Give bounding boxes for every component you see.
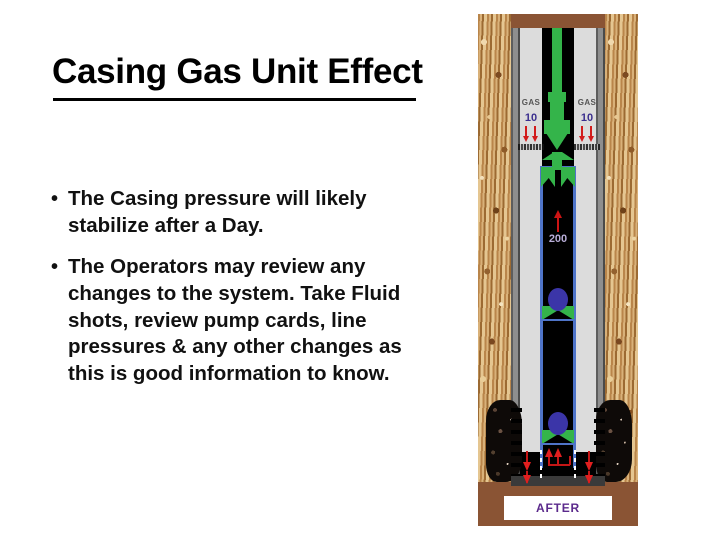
bullet-list: • The Casing pressure will likely stabil…	[50, 186, 410, 402]
diagram-caption-label: AFTER	[536, 501, 580, 515]
down-arrow-icon	[581, 126, 583, 137]
page-title: Casing Gas Unit Effect	[52, 54, 432, 91]
down-arrow-icon	[525, 126, 527, 137]
flow-boundary-dash-right	[574, 450, 576, 482]
flow-boundary-dash-left	[540, 450, 542, 482]
flow-stem	[569, 456, 571, 465]
list-item: • The Casing pressure will likely stabil…	[50, 186, 410, 239]
traveling-valve-divider	[540, 319, 576, 321]
gas-value-right: 10	[574, 111, 600, 125]
bullet-text: The Operators may review any changes to …	[68, 254, 410, 387]
gas-annotation-right: GAS 10	[574, 98, 600, 150]
content-area: Casing Gas Unit Effect • The Casing pres…	[0, 0, 460, 540]
down-arrow-icon	[534, 126, 536, 137]
slide: Casing Gas Unit Effect • The Casing pres…	[0, 0, 720, 540]
flow-arrow-down-icon	[585, 475, 593, 484]
gas-arrows-right	[574, 126, 600, 143]
flow-arrow-down-icon	[523, 475, 531, 484]
texture-band-right	[574, 144, 600, 150]
casing-wall-left	[520, 28, 542, 452]
tubing-pressure-value: 200	[542, 233, 574, 246]
perforation-marks-left	[511, 408, 522, 478]
bullet-marker-icon: •	[51, 254, 58, 280]
wellbore-diagram: GAS 10 GAS 10 200	[478, 14, 638, 526]
perforation-marks-right	[594, 408, 605, 478]
tubing-pressure-annotation: 200	[542, 210, 574, 246]
gas-value-left: 10	[518, 111, 544, 125]
rod-body	[550, 100, 564, 122]
rod-collar-lower	[544, 120, 570, 134]
up-arrow-icon	[542, 210, 574, 232]
gas-label-right: GAS	[574, 98, 600, 108]
flow-stem	[548, 456, 550, 465]
texture-band-left	[518, 144, 544, 150]
rod-taper	[546, 133, 568, 150]
title-underline	[53, 98, 416, 101]
list-item: • The Operators may review any changes t…	[50, 254, 410, 387]
sucker-rod-string	[552, 28, 562, 96]
bullet-text: The Casing pressure will likely stabiliz…	[68, 186, 410, 239]
gas-arrows-left	[518, 126, 544, 143]
down-arrow-icon	[590, 126, 592, 137]
traveling-valve-ball	[548, 288, 568, 311]
gas-label-left: GAS	[518, 98, 544, 108]
flow-arrow-up-icon	[554, 448, 562, 457]
standing-valve-ball	[548, 412, 568, 435]
diagram-caption-box: AFTER	[504, 496, 612, 520]
gas-annotation-left: GAS 10	[518, 98, 544, 150]
flow-arrow-down-icon	[523, 462, 531, 471]
flow-arrow-up-icon	[545, 448, 553, 457]
casing-wall-right	[574, 28, 596, 452]
flow-arrow-down-icon	[585, 462, 593, 471]
flow-stem	[557, 456, 559, 465]
bullet-marker-icon: •	[51, 186, 58, 212]
standing-valve-divider	[540, 443, 576, 445]
flow-rail	[548, 464, 570, 466]
